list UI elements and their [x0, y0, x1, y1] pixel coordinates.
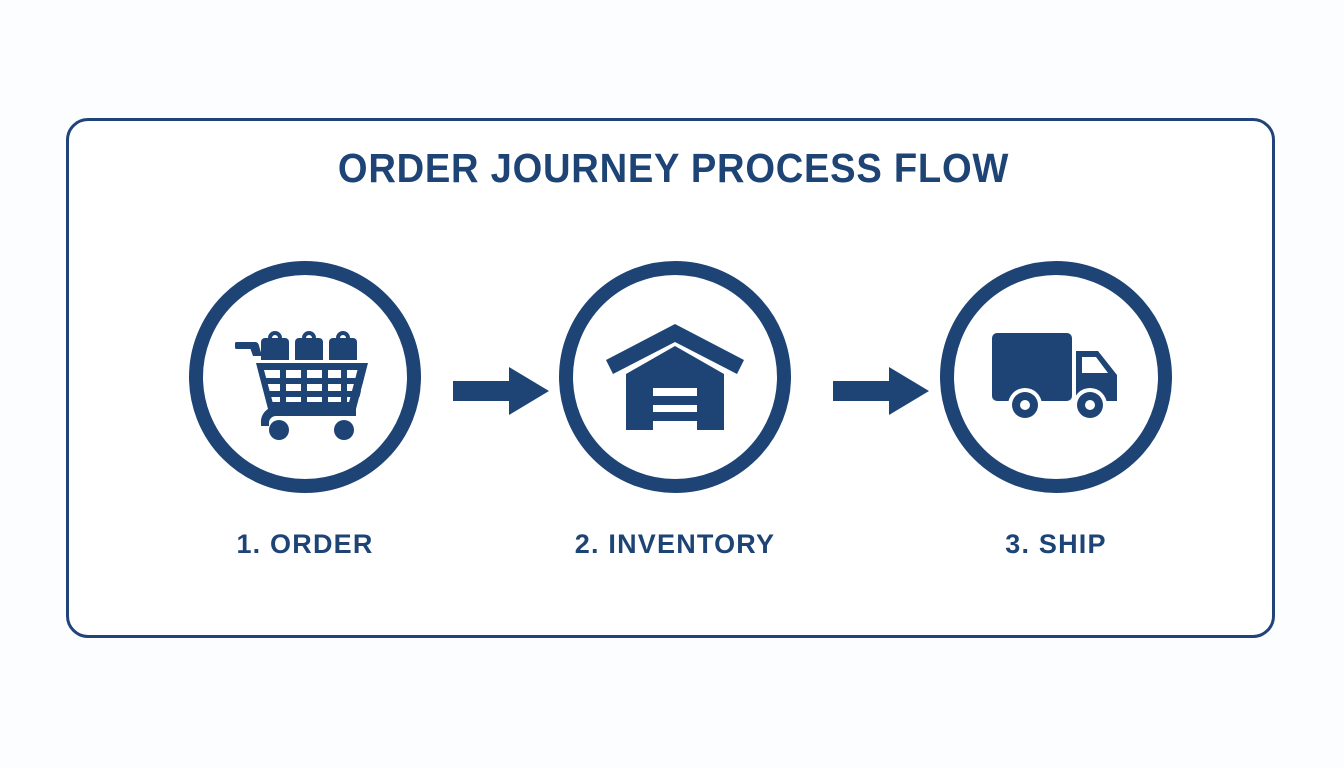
warehouse-icon [605, 318, 745, 436]
process-flow-row: 1. ORDER [69, 261, 1278, 571]
delivery-truck-icon [990, 329, 1122, 425]
process-step-inventory[interactable]: 2. INVENTORY [550, 261, 800, 560]
step-icon-circle-ship [940, 261, 1172, 493]
page-title: ORDER JOURNEY PROCESS FLOW [111, 145, 1235, 192]
process-step-ship[interactable]: 3. SHIP [931, 261, 1181, 560]
connector-arrow-2 [833, 366, 929, 416]
diagram-canvas: ORDER JOURNEY PROCESS FLOW [0, 0, 1344, 768]
step-label-ship: 3. SHIP [931, 529, 1181, 560]
shopping-cart-icon [235, 312, 375, 442]
step-label-inventory: 2. INVENTORY [550, 529, 800, 560]
arrow-right-icon [453, 366, 549, 416]
connector-arrow-1 [453, 366, 549, 416]
step-icon-circle-inventory [559, 261, 791, 493]
process-flow-card: ORDER JOURNEY PROCESS FLOW [66, 118, 1275, 638]
step-icon-circle-order [189, 261, 421, 493]
arrow-right-icon [833, 366, 929, 416]
step-label-order: 1. ORDER [180, 529, 430, 560]
process-step-order[interactable]: 1. ORDER [180, 261, 430, 560]
